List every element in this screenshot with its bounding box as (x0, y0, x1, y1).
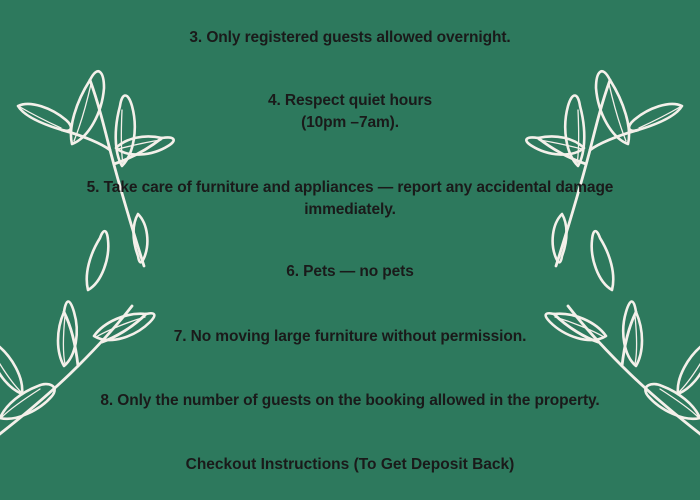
rules-text-block: 3. Only registered guests allowed overni… (0, 0, 700, 500)
rule-item-7: 7. No moving large furniture without per… (60, 326, 640, 348)
rule-item-6: 6. Pets — no pets (60, 261, 640, 283)
house-rules-poster: 3. Only registered guests allowed overni… (0, 0, 700, 500)
checkout-instructions-heading: Checkout Instructions (To Get Deposit Ba… (60, 454, 640, 476)
rule-item-5: 5. Take care of furniture and appliances… (46, 177, 654, 221)
rule-item-3: 3. Only registered guests allowed overni… (60, 27, 640, 49)
rule-item-8: 8. Only the number of guests on the book… (60, 390, 640, 412)
rule-item-4: 4. Respect quiet hours (10pm –7am). (60, 90, 640, 134)
